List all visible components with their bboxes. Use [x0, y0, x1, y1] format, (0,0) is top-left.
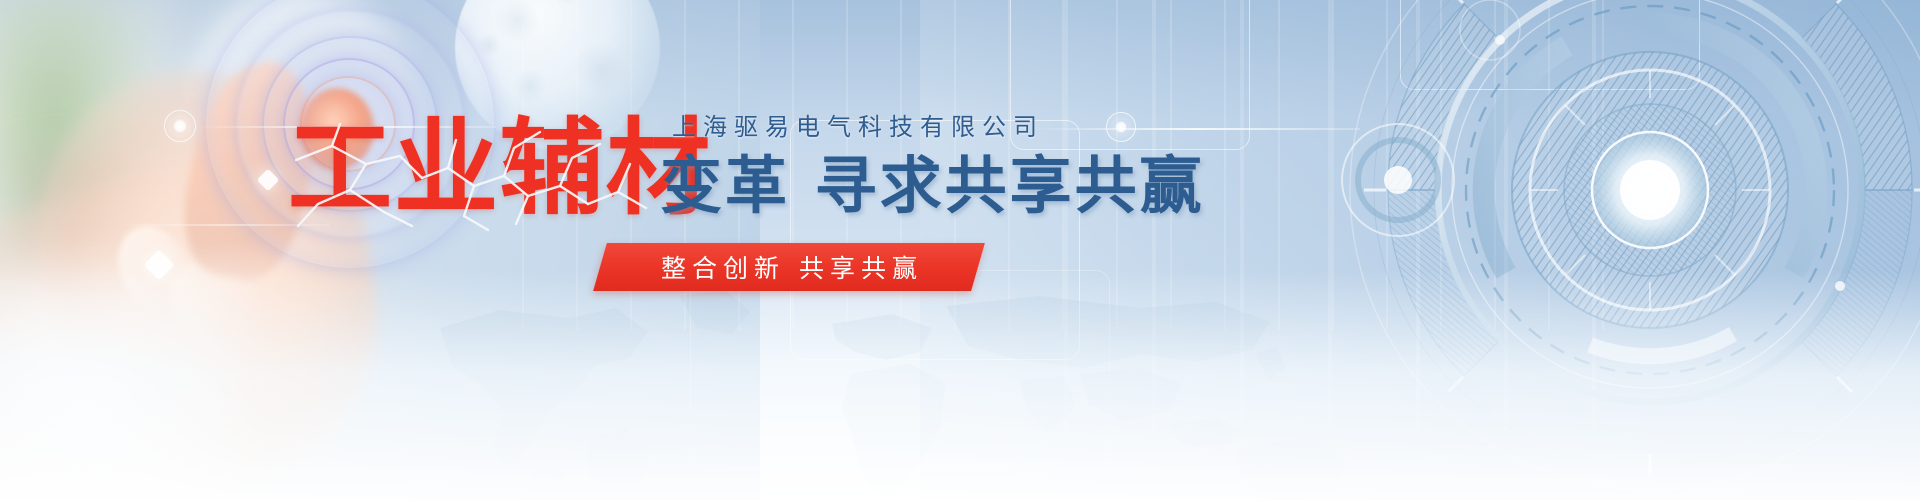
connector-line	[1030, 128, 1360, 130]
node-dot	[1114, 120, 1128, 134]
slogan-ribbon-text: 整合创新 共享共赢	[600, 243, 978, 291]
banner-main-title: 工业辅材	[288, 116, 712, 220]
hero-banner: 工业辅材 上海驱易电气科技有限公司 变革 寻求共享共赢	[0, 0, 1920, 500]
banner-slogan: 变革 寻求共享共赢	[660, 153, 1205, 218]
node-dot	[172, 118, 188, 134]
company-name: 上海驱易电气科技有限公司	[672, 115, 1044, 139]
background-fade-bottom	[0, 270, 1920, 500]
